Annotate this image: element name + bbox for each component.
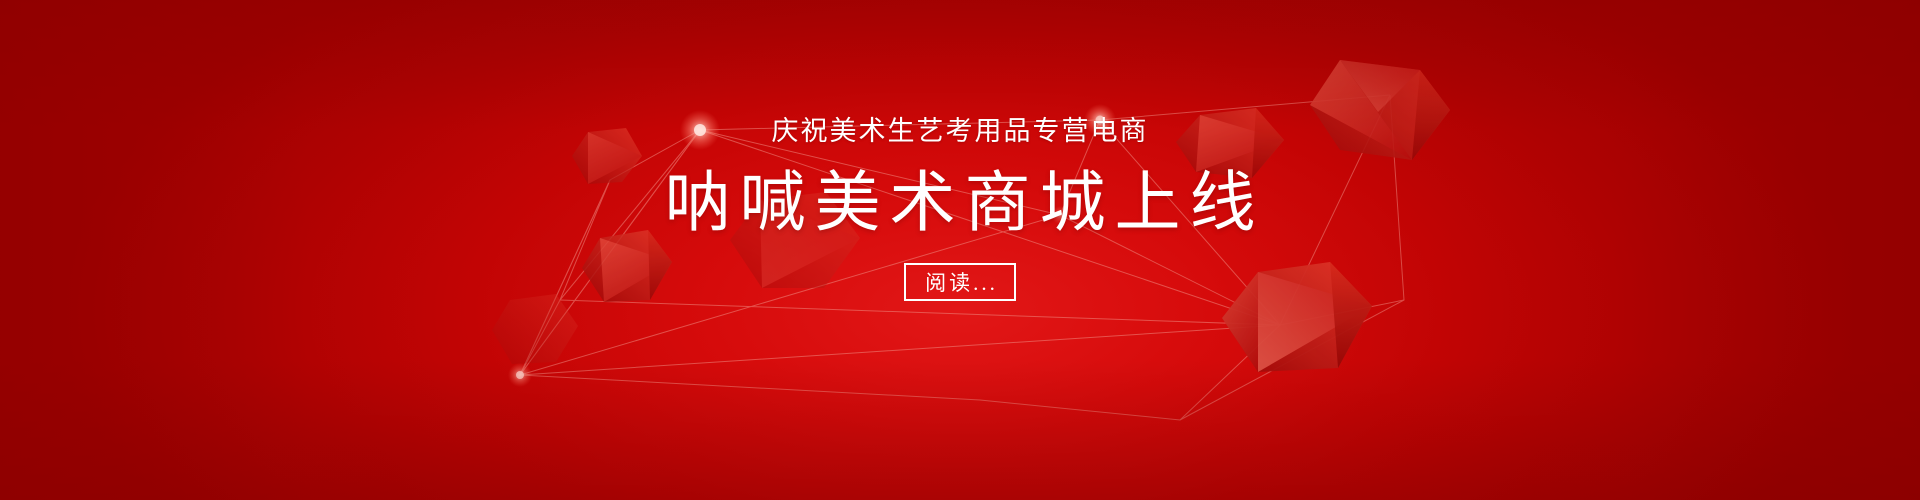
banner-title: 呐喊美术商城上线 [656,167,1265,241]
read-more-button[interactable]: 阅读... [904,263,1016,301]
promo-banner: 庆祝美术生艺考用品专营电商 呐喊美术商城上线 阅读... [0,0,1920,500]
banner-subtitle: 庆祝美术生艺考用品专营电商 [772,118,1149,145]
banner-content: 庆祝美术生艺考用品专营电商 呐喊美术商城上线 阅读... [0,0,1920,500]
